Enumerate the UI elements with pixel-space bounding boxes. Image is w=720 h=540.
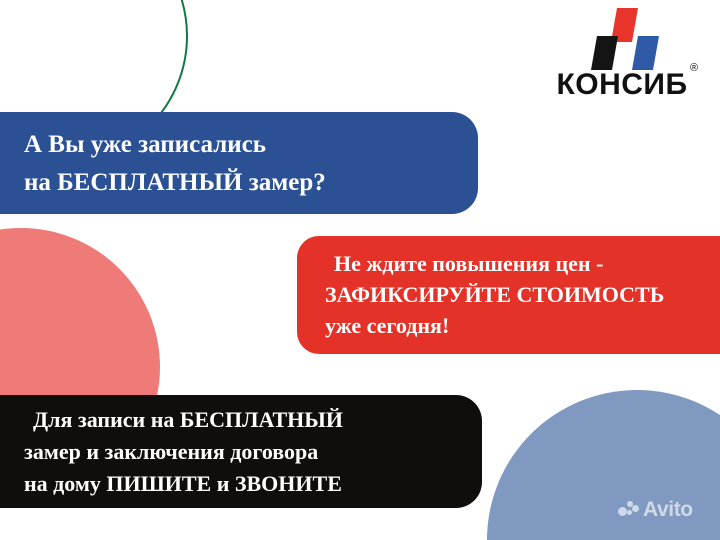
registered-trademark-mark: ® — [690, 62, 698, 74]
banner-black-line-3: на дому ПИШИТЕ и ЗВОНИТЕ — [24, 468, 482, 500]
avito-dots-icon — [618, 501, 638, 519]
banner-blue-line-2: на БЕСПЛАТНЫЙ замер? — [24, 164, 478, 202]
konsib-logo: КОНСИБ ® — [529, 6, 715, 106]
banner-blue-line-1: А Вы уже записались — [24, 126, 478, 164]
avito-wordmark: Avito — [643, 498, 693, 522]
logo-mark-icon — [591, 6, 663, 72]
banner-red-line-2: ЗАФИКСИРУЙТЕ СТОИМОСТЬ — [325, 279, 720, 310]
headline-banner-red: Не ждите повышения цен - ЗАФИКСИРУЙТЕ СТ… — [297, 236, 720, 354]
banner-red-line-1: Не ждите повышения цен - — [325, 248, 720, 279]
avito-watermark: Avito — [618, 498, 693, 522]
promo-poster: КОНСИБ ® А Вы уже записались на БЕСПЛАТН… — [0, 0, 720, 540]
banner-black-line-1: Для записи на БЕСПЛАТНЫЙ — [24, 404, 482, 436]
logo-wordmark: КОНСИБ — [529, 68, 715, 102]
banner-black-line-2: замер и заключения договора — [24, 436, 482, 468]
banner-red-line-3: уже сегодня! — [325, 310, 720, 341]
headline-banner-blue: А Вы уже записались на БЕСПЛАТНЫЙ замер? — [0, 112, 478, 214]
headline-banner-black: Для записи на БЕСПЛАТНЫЙ замер и заключе… — [0, 395, 482, 508]
